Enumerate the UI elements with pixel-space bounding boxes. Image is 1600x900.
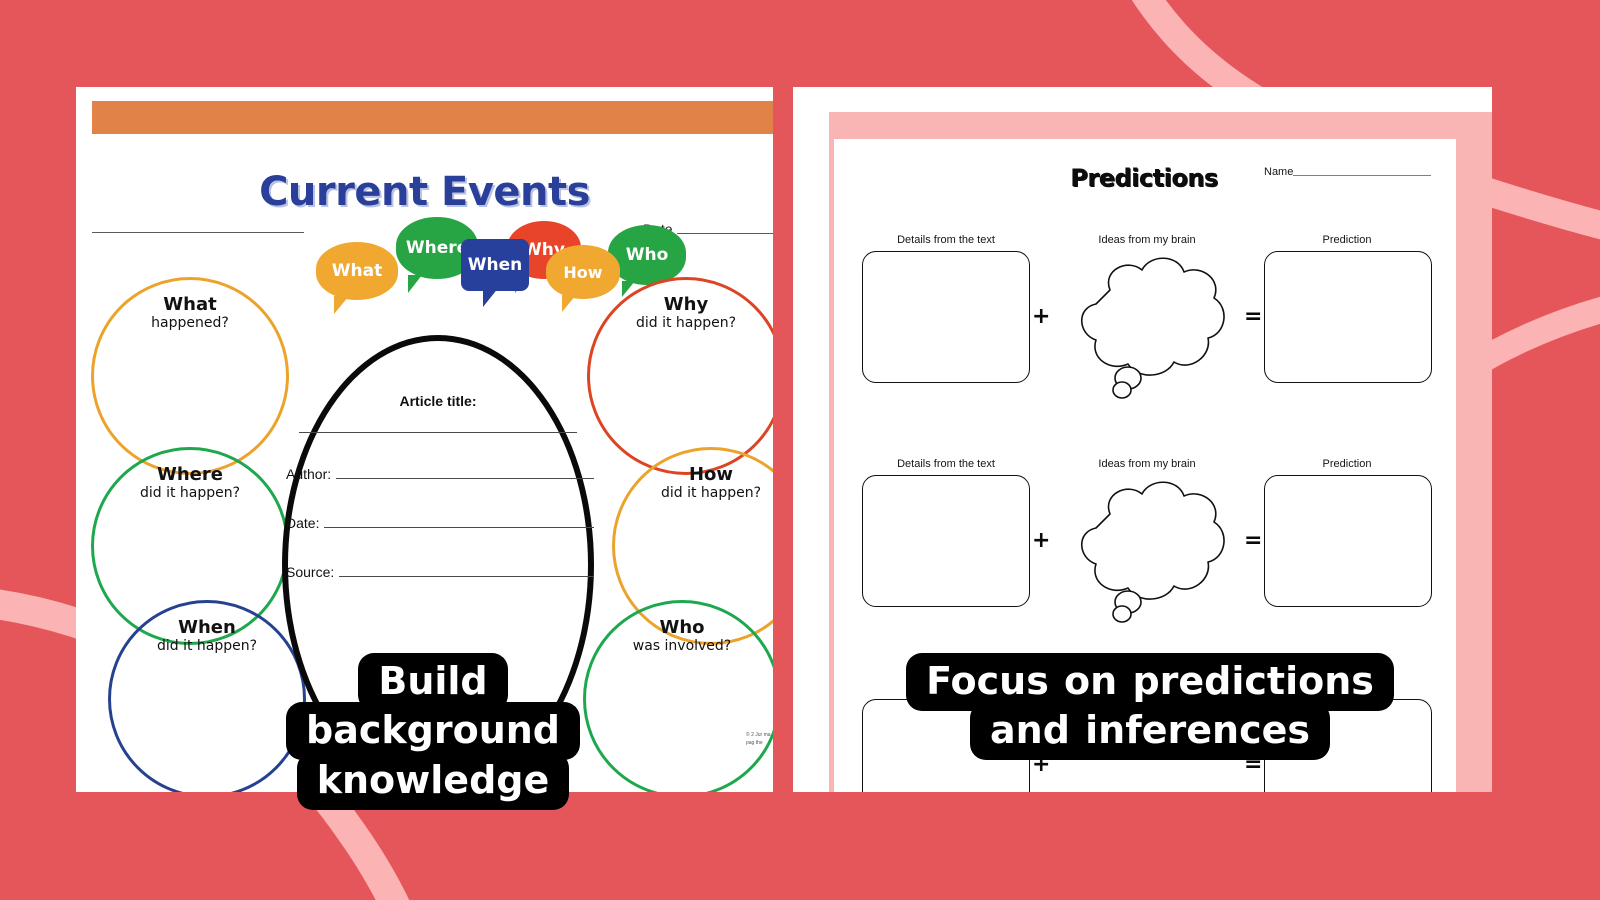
speech-bubble-who-label: Who xyxy=(626,245,669,265)
date-label-center: Date: xyxy=(286,515,319,531)
date-blank-line-center[interactable] xyxy=(324,527,594,528)
details-input-box[interactable] xyxy=(862,251,1030,383)
speech-bubble-where-label: Where xyxy=(406,238,468,258)
orange-header-bar xyxy=(92,101,773,134)
date-field-center[interactable]: Date: xyxy=(282,515,594,531)
author-label: Author: xyxy=(286,466,331,482)
node-label-where: Where did it happen? xyxy=(94,466,286,501)
name-blank-line[interactable] xyxy=(1293,175,1431,176)
author-blank-line[interactable] xyxy=(336,478,594,479)
page-title-predictions: Predictions xyxy=(1004,164,1284,192)
date-blank-line xyxy=(677,233,773,234)
node-circle-what[interactable]: What happened? xyxy=(91,277,289,475)
speech-bubble-how-label: How xyxy=(563,263,602,282)
source-field[interactable]: Source: xyxy=(282,564,594,580)
speech-bubble-what: What xyxy=(316,242,398,300)
node-label-how: How did it happen? xyxy=(615,466,773,501)
column-caption-prediction: Prediction xyxy=(1262,458,1432,470)
column-caption-details: Details from the text xyxy=(861,234,1031,246)
node-label-what: What happened? xyxy=(94,296,286,331)
column-caption-ideas: Ideas from my brain xyxy=(1062,234,1232,246)
thought-cloud-icon[interactable] xyxy=(1052,470,1238,630)
node-label-who: Who was involved? xyxy=(586,619,773,654)
slide-canvas: Current Events Date Where Why Who xyxy=(0,0,1600,900)
copyright-note: © 2 Jur ma pag the xyxy=(746,732,773,747)
plus-operator: + xyxy=(1032,530,1050,552)
prediction-input-box[interactable] xyxy=(1264,251,1432,383)
name-field[interactable]: Name xyxy=(1264,166,1431,178)
speech-bubble-how: How xyxy=(546,245,620,299)
caption-right-text: Focus on predictions and inferences xyxy=(906,653,1394,760)
prediction-row: Details from the text Ideas from my brai… xyxy=(862,234,1432,409)
source-blank-line[interactable] xyxy=(339,576,594,577)
name-label: Name xyxy=(1264,166,1293,178)
column-caption-details: Details from the text xyxy=(861,458,1031,470)
plus-operator: + xyxy=(1032,306,1050,328)
node-label-when: When did it happen? xyxy=(111,619,303,654)
article-title-label: Article title: xyxy=(282,393,594,409)
column-caption-ideas: Ideas from my brain xyxy=(1062,458,1232,470)
thought-cloud-icon[interactable] xyxy=(1052,246,1238,406)
node-circle-why[interactable]: Why did it happen? xyxy=(587,277,773,475)
prediction-row: Details from the text Ideas from my brai… xyxy=(862,458,1432,633)
author-field[interactable]: Author: xyxy=(282,466,594,482)
speech-bubble-what-label: What xyxy=(332,261,382,281)
prediction-input-box[interactable] xyxy=(1264,475,1432,607)
equals-operator: = xyxy=(1244,530,1262,552)
speech-bubble-when: When xyxy=(461,239,529,291)
caption-left-text: Build background knowledge xyxy=(286,653,580,810)
article-title-blank-line[interactable] xyxy=(299,432,577,433)
details-input-box[interactable] xyxy=(862,475,1030,607)
speech-bubble-when-label: When xyxy=(468,255,523,275)
column-caption-prediction: Prediction xyxy=(1262,234,1432,246)
page-title-current-events: Current Events xyxy=(76,169,773,215)
source-label: Source: xyxy=(286,564,334,580)
speech-bubble-cluster: Where Why Who What How xyxy=(256,217,636,317)
caption-left: Build background knowledge xyxy=(238,657,628,805)
node-label-why: Why did it happen? xyxy=(590,296,773,331)
equals-operator: = xyxy=(1244,306,1262,328)
caption-right: Focus on predictions and inferences xyxy=(888,657,1412,756)
